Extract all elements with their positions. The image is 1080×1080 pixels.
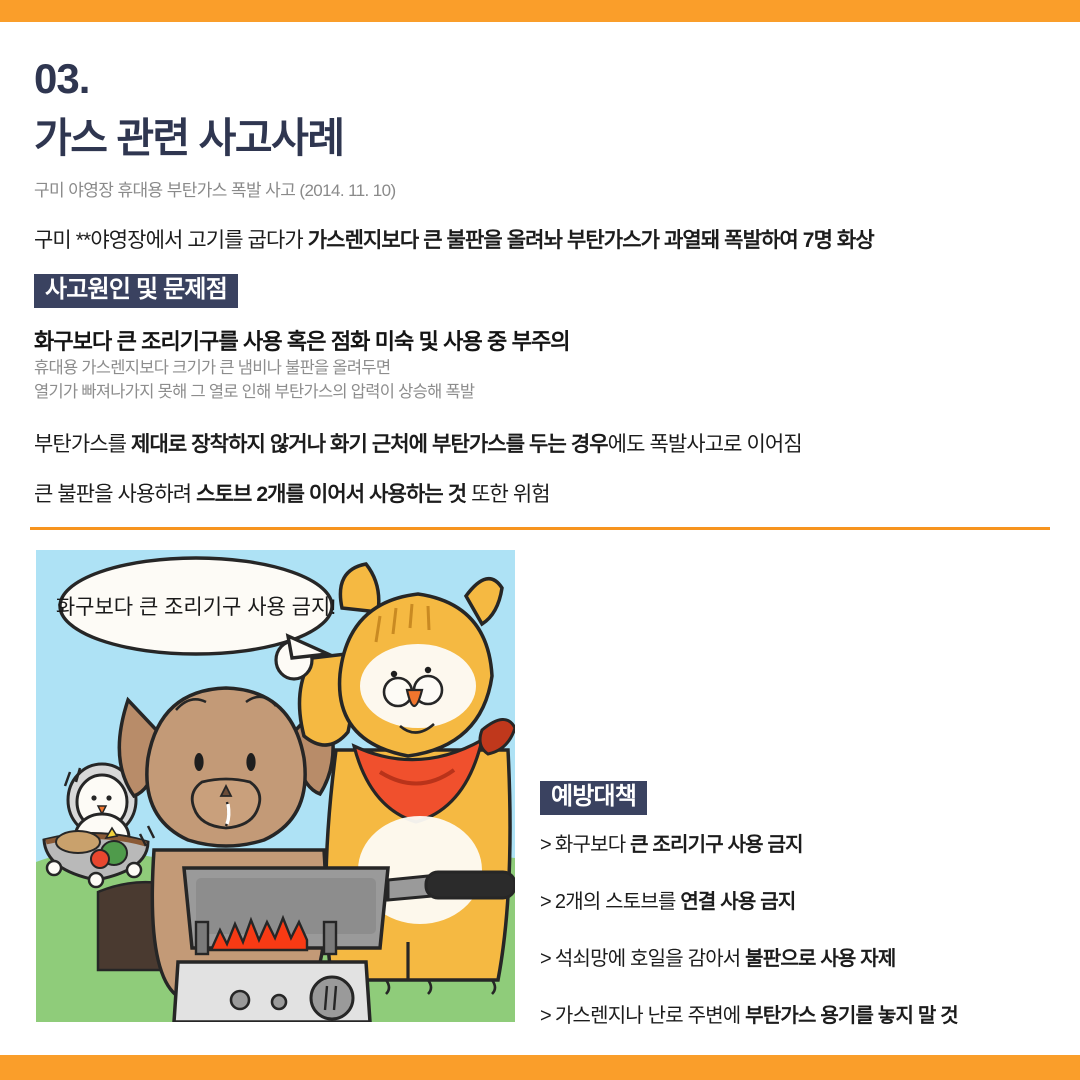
cause-paragraph-1-plain-a: 부탄가스를 <box>34 433 131 456</box>
tray-foot-left <box>47 861 61 875</box>
page-title: 가스 관련 사고사례 <box>34 118 344 159</box>
cause-paragraph-1-plain-c: 에도 폭발사고로 이어짐 <box>608 433 802 456</box>
stove-dot-right <box>272 995 286 1009</box>
section-number: 03. <box>34 58 89 100</box>
burner-support-left <box>196 922 208 954</box>
bird-eye-right <box>106 795 111 800</box>
cause-paragraph-1-bold: 제대로 장착하지 않거나 화기 근처에 부탄가스를 두는 경우 <box>131 433 608 456</box>
tray-foot-right <box>127 863 141 877</box>
cause-paragraph-2-bold: 스토브 2개를 이어서 사용하는 것 <box>196 483 466 506</box>
dog-drool <box>227 804 229 824</box>
prevention-item: >석쇠망에 호일을 감아서 불판으로 사용 자제 <box>540 942 1060 971</box>
prevention-text-bold: 부탄가스 용기를 놓지 말 것 <box>745 1005 958 1027</box>
prevention-marker: > <box>540 948 551 970</box>
incident-summary: 구미 **야영장에서 고기를 굽다가 가스렌지보다 큰 불판을 올려놔 부탄가스… <box>34 224 874 254</box>
pan-handle <box>426 872 515 898</box>
prevention-item: >가스렌지나 난로 주변에 부탄가스 용기를 놓지 말 것 <box>540 999 1060 1028</box>
prevention-marker: > <box>540 1005 551 1027</box>
top-accent-bar <box>0 0 1080 22</box>
stove-dot-left <box>231 991 249 1009</box>
dog-eye-left <box>194 753 203 771</box>
cat-eye-right <box>425 667 431 673</box>
cause-detail-line-2: 열기가 빠져나가지 못해 그 열로 인해 부탄가스의 압력이 상승해 폭발 <box>34 383 474 401</box>
dog-eye-right <box>246 753 255 771</box>
incident-summary-bold: 가스렌지보다 큰 불판을 올려놔 부탄가스가 과열돼 폭발하여 7명 화상 <box>308 229 874 252</box>
prevention-item: >화구보다 큰 조리기구 사용 금지 <box>540 828 1060 857</box>
prevention-text-bold: 큰 조리기구 사용 금지 <box>630 834 803 856</box>
cat-eye-left <box>391 671 397 677</box>
prevention-list: >화구보다 큰 조리기구 사용 금지 >2개의 스토브를 연결 사용 금지 >석… <box>540 828 1060 1056</box>
prevention-section-badge: 예방대책 <box>540 781 647 815</box>
incident-summary-plain: 구미 **야영장에서 고기를 굽다가 <box>34 229 308 252</box>
burner-support-right <box>324 922 336 954</box>
bread-food <box>56 831 100 853</box>
infographic-page: 03. 가스 관련 사고사례 구미 야영장 휴대용 부탄가스 폭발 사고 (20… <box>0 0 1080 1080</box>
cause-paragraph-2-plain-a: 큰 불판을 사용하려 <box>34 483 196 506</box>
prevention-text-plain: 가스렌지나 난로 주변에 <box>555 1005 745 1027</box>
prevention-marker: > <box>540 891 551 913</box>
prevention-text-bold: 불판으로 사용 자제 <box>745 948 895 970</box>
stove-knob <box>311 977 353 1019</box>
page-subtitle: 구미 야영장 휴대용 부탄가스 폭발 사고 (2014. 11. 10) <box>34 176 396 201</box>
illustration-panel: 화구보다 큰 조리기구 사용 금지! <box>36 550 515 1022</box>
prevention-item: >2개의 스토브를 연결 사용 금지 <box>540 885 1060 914</box>
speech-bubble-text: 화구보다 큰 조리기구 사용 금지! <box>56 596 336 619</box>
prevention-text-bold: 연결 사용 금지 <box>680 891 795 913</box>
bird-eye-left <box>91 795 96 800</box>
cause-detail: 휴대용 가스렌지보다 크기가 큰 냄비나 불판을 올려두면 열기가 빠져나가지 … <box>34 357 474 405</box>
prevention-text-plain: 2개의 스토브를 <box>555 891 680 913</box>
cause-paragraph-1: 부탄가스를 제대로 장착하지 않거나 화기 근처에 부탄가스를 두는 경우에도 … <box>34 428 802 458</box>
prevention-text-plain: 화구보다 <box>555 834 630 856</box>
tray-foot-center <box>89 873 103 887</box>
section-divider <box>30 527 1050 530</box>
illustration-svg: 화구보다 큰 조리기구 사용 금지! <box>36 550 515 1022</box>
cause-detail-line-1: 휴대용 가스렌지보다 크기가 큰 냄비나 불판을 올려두면 <box>34 359 390 377</box>
prevention-text-plain: 석쇠망에 호일을 감아서 <box>555 948 745 970</box>
cause-paragraph-2-plain-c: 또한 위험 <box>466 483 550 506</box>
cause-heading: 화구보다 큰 조리기구를 사용 혹은 점화 미숙 및 사용 중 부주의 <box>34 324 570 356</box>
cause-paragraph-2: 큰 불판을 사용하려 스토브 2개를 이어서 사용하는 것 또한 위험 <box>34 478 550 508</box>
cause-section-badge: 사고원인 및 문제점 <box>34 274 238 308</box>
prevention-marker: > <box>540 834 551 856</box>
bottom-accent-bar <box>0 1055 1080 1080</box>
vegetable-red <box>91 850 109 868</box>
